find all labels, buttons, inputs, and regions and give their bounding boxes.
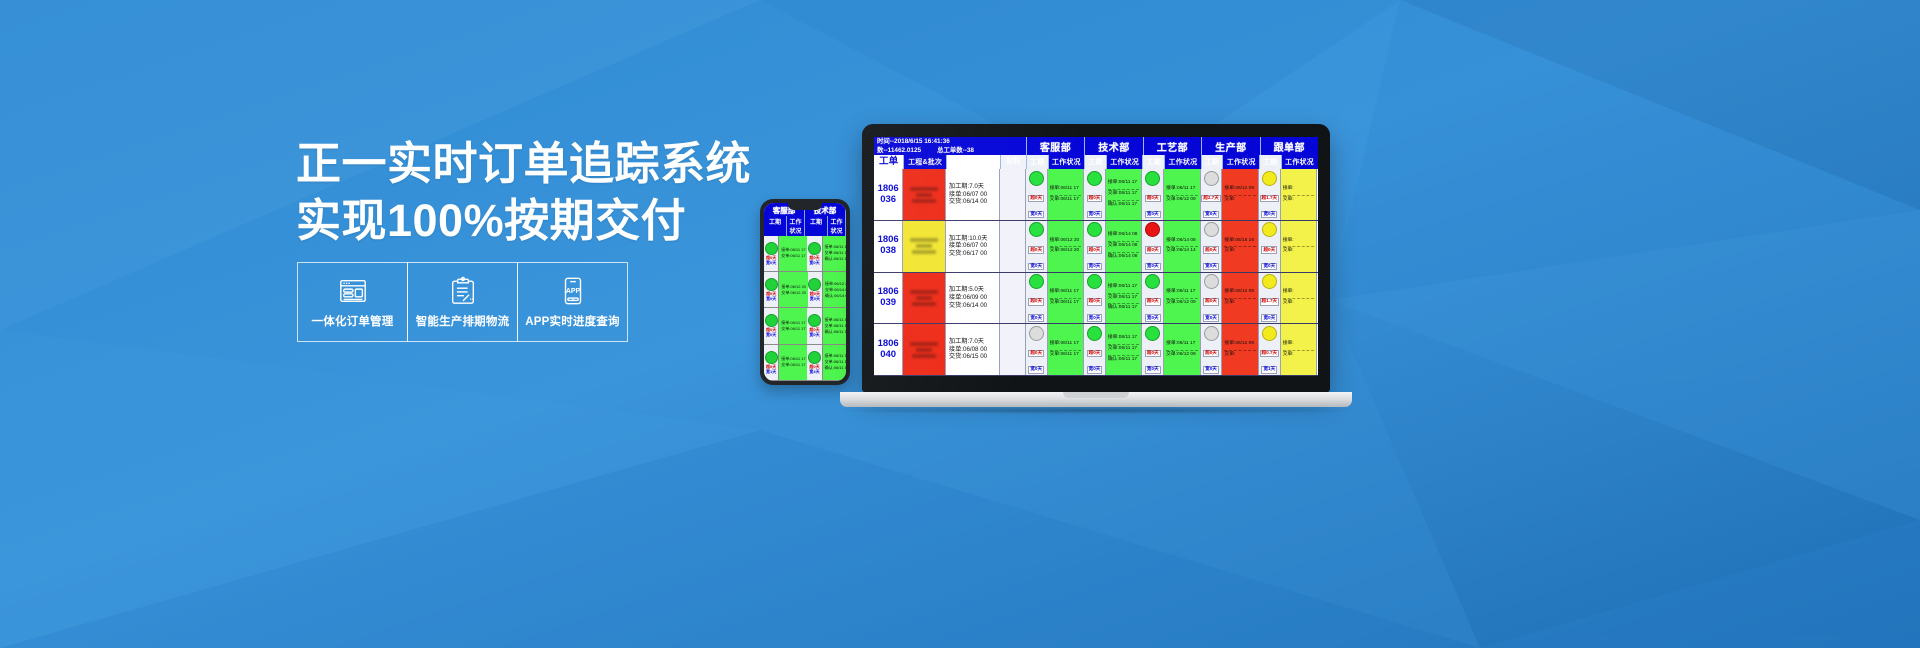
work-status-cell: 接单:06/11 17交单:06/11 17: [1048, 324, 1085, 375]
project-batch-cell: [903, 324, 946, 375]
status-line: 接单:06/11 17: [1108, 181, 1140, 186]
slack-chip: 宽0天: [1145, 314, 1161, 322]
department-header-strip: 客服部技术部工艺部生产部跟单部: [1026, 137, 1318, 155]
status-dot-white: [1204, 222, 1219, 237]
status-line: 接单:: [1283, 239, 1315, 244]
table-body: 1806036加工期:7.0天接单:06/07 00交货:06/14 00超0天…: [874, 169, 1318, 376]
status-line: 交单:: [1283, 350, 1315, 358]
slack-chip: 宽0天: [1028, 211, 1044, 219]
work-status-cell: 接单:06/12 09交单:: [1222, 169, 1259, 220]
col-header-material: 材料: [1000, 155, 1026, 169]
duration-cell: 超0天宽0天: [1026, 221, 1048, 272]
phone-slack-chip: 宽0天: [766, 261, 776, 265]
phone-duration-cell: 超0天宽0天: [807, 308, 822, 343]
phone-table-row[interactable]: 超0天宽0天接单:06/12 20交单:06/12 20超0天宽0天接单:06/…: [764, 272, 846, 308]
cycle-received: 接单:06/09 00: [949, 295, 999, 301]
status-line: 接单:: [1283, 342, 1315, 347]
phone-mockup: 客服部 技术部 工期 工作状况 工期 工作状况 超0天宽0天接单:06/11 1…: [760, 199, 850, 385]
status-dot-white: [1204, 171, 1219, 186]
phone-department-block: 超0天宽0天接单:06/12 20交单:06/14 08确认:06/14 08: [808, 272, 846, 307]
cycle-received: 接单:06/07 00: [949, 192, 999, 198]
status-line: 确认:06/14 08: [1108, 252, 1140, 260]
status-dot-yellow: [1262, 274, 1277, 289]
material-cell: [1000, 169, 1026, 220]
phone-slack-chip: 宽0天: [766, 333, 776, 337]
status-line: 交单:06/12 09: [1166, 350, 1198, 358]
slack-chip: 宽0天: [1203, 314, 1219, 322]
overdue-chip: 超0天: [1203, 298, 1219, 306]
status-line: 交单:06/12 09: [1166, 195, 1198, 203]
phone-status-dot-green: [808, 278, 821, 291]
table-column-header: 工单 工程&批次 加工周期 材料 工期 工作状况 工期 工作状况 工期 工作状况…: [874, 155, 1318, 169]
phone-slack-chip: 宽0天: [810, 297, 820, 301]
phone-table-row[interactable]: 超0天宽1天接单:06/11 17交单:06/11 17超0天宽4天接单:06/…: [764, 345, 846, 381]
phone-work-status-cell: 接单:06/11 17交单:06/11 17: [779, 345, 807, 380]
cycle-cell: 加工期:7.0天接单:06/08 00交货:06/15 00: [946, 324, 1000, 375]
work-status-cell: 接单:06/12 20交单:06/12 20: [1048, 221, 1085, 272]
status-line: 接单:06/11 17: [1050, 342, 1082, 347]
phone-work-status-cell: 接单:06/12 20交单:06/12 20: [779, 272, 808, 307]
redacted-text-bar: [912, 250, 936, 254]
status-line: 接单:06/14 08: [1166, 239, 1198, 244]
phone-status-line: 接单:06/11 17: [825, 245, 846, 249]
slack-chip: 宽0天: [1145, 366, 1161, 374]
status-dot-green: [1145, 274, 1160, 289]
slack-chip: 宽0天: [1261, 263, 1277, 271]
laptop-base: [840, 392, 1352, 407]
phone-status-line: 交单:06/11 17: [781, 254, 805, 258]
status-line: 交单:: [1283, 298, 1315, 306]
cycle-cell: 加工期:7.0天接单:06/07 00交货:06/14 00: [946, 169, 1000, 220]
cycle-cell: 加工期:5.0天接单:06/09 00交货:06/14 00: [946, 273, 1000, 324]
phone-duration-cell: 超0天宽0天: [807, 236, 822, 271]
work-status-cell: 接单:06/11 17交单:06/12 09: [1164, 273, 1201, 324]
cycle-period: 加工期:10.0天: [949, 236, 999, 242]
feature-label: APP实时进度查询: [525, 313, 619, 329]
status-line: 交单:: [1283, 246, 1315, 254]
status-line: 交单:06/11 17: [1108, 189, 1140, 197]
phone-duration-cell: 超0天宽0天: [764, 272, 779, 307]
department-cell: 生产部: [1201, 137, 1259, 155]
phone-status-line: 确认:06/11 17: [825, 257, 846, 261]
slack-chip: 宽0天: [1203, 211, 1219, 219]
phone-duration-cell: 超0天宽0天: [764, 236, 779, 271]
overdue-chip: 超1.7天: [1260, 298, 1280, 306]
slack-chip: 宽0天: [1087, 211, 1103, 219]
duration-cell: 超0.7天宽1天: [1259, 324, 1281, 375]
status-line: 接单:06/11 17: [1108, 285, 1140, 290]
status-line: 交单:06/11 17: [1050, 298, 1082, 306]
redacted-text-bar: [910, 187, 938, 191]
duration-cell: 超0天宽0天: [1142, 169, 1164, 220]
phone-col-status: 工作状况: [787, 216, 805, 236]
department-cell: 技术部: [1084, 137, 1142, 155]
feature-item-app-progress[interactable]: APP APP实时进度查询: [517, 262, 628, 342]
status-line: 交单:06/14 08: [1108, 241, 1140, 249]
order-id-bottom: 039: [880, 298, 896, 309]
status-line: 交单:: [1224, 350, 1256, 358]
status-line: 交单:06/11 17: [1108, 344, 1140, 352]
overdue-chip: 超0.7天: [1260, 350, 1280, 358]
phone-status-dot-green: [808, 351, 821, 364]
work-status-cell: 接单:06/14 08交单:06/14 14: [1164, 221, 1201, 272]
slack-chip: 宽0天: [1028, 263, 1044, 271]
status-line: 交单:06/11 17: [1108, 293, 1140, 301]
work-status-cell: 接单:06/11 17交单:06/12 09: [1164, 324, 1201, 375]
order-id-cell: 1806038: [874, 221, 903, 272]
cycle-delivery: 交货:06/14 00: [949, 199, 999, 205]
overdue-chip: 超0天: [1203, 246, 1219, 254]
phone-status-line: 交单:06/11 17: [781, 363, 805, 367]
status-line: 接单:06/14 08: [1108, 233, 1140, 238]
app-icon-text: APP: [565, 288, 580, 295]
work-status-cell: 接单:06/11 17交单:06/12 09: [1164, 169, 1201, 220]
headline-block: 正一实时订单追踪系统 实现100%按期交付: [296, 136, 716, 249]
order-id-cell: 1806040: [874, 324, 903, 375]
duration-cell: 超0天宽0天: [1201, 324, 1223, 375]
redacted-text-bar: [912, 302, 936, 306]
order-id-cell: 1806036: [874, 169, 903, 220]
status-dot-yellow: [1262, 326, 1277, 341]
phone-status-line: 接单:06/11 17: [781, 248, 805, 252]
phone-department-block: 超0天宽1天接单:06/11 17交单:06/11 17: [764, 345, 807, 380]
phone-status-dot-green: [765, 314, 778, 327]
phone-department-block: 超0天宽4天接单:06/11 17交单:06/11 17确认:06/11 17: [807, 345, 846, 380]
cycle-period: 加工期:5.0天: [949, 287, 999, 293]
status-line: 交单:06/11 17: [1050, 350, 1082, 358]
duration-cell: 超1.7天宽0天: [1259, 273, 1281, 324]
status-dot-green: [1087, 171, 1102, 186]
status-line: 接单:: [1283, 187, 1315, 192]
feature-item-production-scheduling[interactable]: 智能生产排期物流: [407, 262, 518, 342]
status-line: 交单:06/11 17: [1050, 195, 1082, 203]
redacted-text-bar: [910, 342, 938, 346]
phone-status-line: 确认:06/11 17: [825, 330, 846, 334]
overdue-chip: 超0天: [1028, 298, 1044, 306]
department-cell: 跟单部: [1260, 137, 1318, 155]
phone-department-block: 超0天宽0天接单:06/12 20交单:06/12 20: [764, 272, 808, 307]
status-line: 交单:: [1224, 195, 1256, 203]
duration-cell: 超0天宽0天: [1201, 273, 1223, 324]
meta-timestamp: 时间--2018/6/15 16:41:36: [877, 138, 1024, 147]
duration-cell: 超0天宽0天: [1259, 221, 1281, 272]
work-status-cell: 接单:06/11 17交单:06/11 17确认:06/11 17: [1106, 324, 1143, 375]
duration-cell: 超0天宽0天: [1084, 169, 1106, 220]
cycle-received: 接单:06/08 00: [949, 347, 999, 353]
status-line: 交单:06/14 14: [1166, 246, 1198, 254]
material-cell: [1000, 273, 1026, 324]
work-status-cell: 接单:06/11 17交单:06/11 17: [1048, 273, 1085, 324]
project-batch-cell: [903, 273, 946, 324]
slack-chip: 宽0天: [1261, 211, 1277, 219]
phone-status-line: 交单:06/11 17: [825, 251, 846, 255]
phone-status-dot-green: [765, 351, 778, 364]
overdue-chip: 超0天: [1087, 298, 1103, 306]
laptop-shadow: [832, 407, 1360, 414]
col-header-status: 工作状况: [1281, 155, 1318, 169]
phone-status-line: 交单:06/14 08: [825, 288, 846, 292]
phone-status-dot-green: [765, 278, 778, 291]
overdue-chip: 超0天: [1028, 246, 1044, 254]
col-header-duration: 工期: [1026, 155, 1048, 169]
col-header-duration: 工期: [1142, 155, 1164, 169]
project-batch-cell: [903, 221, 946, 272]
order-id-bottom: 036: [880, 195, 896, 206]
duration-cell: 超0天宽0天: [1084, 324, 1106, 375]
phone-duration-cell: 超0天宽1天: [764, 345, 779, 380]
phone-col-duration: 工期: [805, 216, 828, 236]
status-dot-white: [1204, 274, 1219, 289]
overdue-chip: 超0天: [1028, 350, 1044, 358]
overdue-chip: 超0天: [1145, 195, 1161, 203]
status-line: 确认:06/11 17: [1108, 303, 1140, 311]
phone-work-status-cell: 接单:06/11 17交单:06/11 17: [779, 308, 807, 343]
phone-status-line: 接单:06/12 20: [825, 282, 846, 286]
phone-status-dot-green: [765, 242, 778, 255]
overdue-chip: 超0天: [1087, 350, 1103, 358]
work-status-cell: 接单:06/11 17交单:06/11 17确认:06/11 17: [1106, 273, 1143, 324]
table-row[interactable]: 1806036加工期:7.0天接单:06/07 00交货:06/14 00超0天…: [874, 169, 1318, 221]
duration-cell: 超0天宽0天: [1084, 221, 1106, 272]
table-meta-row: 时间--2018/6/15 16:41:36 数--11462.0125总工单数…: [874, 137, 1318, 155]
department-cell: 工艺部: [1143, 137, 1201, 155]
feature-item-order-management[interactable]: 一体化订单管理: [297, 262, 408, 342]
duration-cell: 超0天宽0天: [1026, 169, 1048, 220]
redacted-text-bar: [916, 348, 932, 352]
col-header-status: 工作状况: [1106, 155, 1143, 169]
feature-label: 智能生产排期物流: [416, 313, 510, 329]
phone-status-line: 交单:06/11 17: [781, 327, 805, 331]
overdue-chip: 超0天: [1087, 195, 1103, 203]
redacted-text-bar: [916, 296, 932, 300]
status-dot-red: [1145, 222, 1160, 237]
duration-cell: 超1.7天宽0天: [1259, 169, 1281, 220]
redacted-text-bar: [910, 290, 938, 294]
col-header-duration: 工期: [1084, 155, 1106, 169]
cycle-cell: 加工期:10.0天接单:06/07 00交货:06/17 00: [946, 221, 1000, 272]
phone-screen[interactable]: 客服部 技术部 工期 工作状况 工期 工作状况 超0天宽0天接单:06/11 1…: [764, 203, 846, 381]
work-status-cell: 接单:06/12 09交单:: [1222, 273, 1259, 324]
status-line: 接单:06/11 17: [1108, 336, 1140, 341]
status-line: 接单:: [1283, 290, 1315, 295]
duration-cell: 超0天宽0天: [1142, 221, 1164, 272]
col-header-duration: 工期: [1259, 155, 1281, 169]
redacted-text-bar: [910, 238, 938, 242]
order-id-cell: 1806039: [874, 273, 903, 324]
col-header-status: 工作状况: [1164, 155, 1201, 169]
status-dot-green: [1029, 274, 1044, 289]
status-line: 交单:06/12 20: [1050, 246, 1082, 254]
status-dot-green: [1145, 171, 1160, 186]
phone-slack-chip: 宽0天: [809, 261, 819, 265]
status-dot-green: [1029, 222, 1044, 237]
status-line: 接单:06/12 09: [1224, 342, 1256, 347]
table-row[interactable]: 1806039加工期:5.0天接单:06/09 00交货:06/14 00超0天…: [874, 273, 1318, 325]
work-status-cell: 接单:交单:: [1281, 324, 1318, 375]
slack-chip: 宽0天: [1028, 366, 1044, 374]
status-dot-white: [1029, 326, 1044, 341]
overdue-chip: 超0天: [1087, 246, 1103, 254]
status-dot-green: [1029, 171, 1044, 186]
feature-label: 一体化订单管理: [312, 313, 394, 329]
status-line: 接单:06/12 20: [1050, 239, 1082, 244]
status-line: 确认:06/11 17: [1108, 200, 1140, 208]
redacted-text-bar: [916, 193, 932, 197]
phone-col-duration: 工期: [764, 216, 787, 236]
status-line: 交单:06/12 09: [1166, 298, 1198, 306]
slack-chip: 宽0天: [1203, 263, 1219, 271]
overdue-chip: 超0天: [1145, 298, 1161, 306]
order-card-icon: [338, 276, 368, 306]
phone-slack-chip: 宽4天: [809, 370, 819, 374]
meta-count-value: 数--11462.0125: [877, 147, 921, 154]
phone-column-header: 工期 工作状况 工期 工作状况: [764, 216, 846, 236]
headline-line-1: 正一实时订单追踪系统: [296, 136, 716, 193]
phone-status-line: 交单:06/11 17: [825, 360, 846, 364]
cycle-period: 加工期:7.0天: [949, 184, 999, 190]
overdue-chip: 超0天: [1145, 350, 1161, 358]
phone-department-block: 超0天宽0天接单:06/11 17交单:06/11 17确认:06/11 17: [807, 308, 846, 343]
work-status-cell: 接单:06/11 17交单:06/11 17: [1048, 169, 1085, 220]
slack-chip: 宽1天: [1261, 366, 1277, 374]
phone-duration-cell: 超0天宽0天: [764, 308, 779, 343]
status-line: 交单:: [1224, 246, 1256, 254]
duration-cell: 超2.7天宽0天: [1201, 169, 1223, 220]
phone-status-line: 交单:06/12 20: [781, 291, 806, 295]
cycle-delivery: 交货:06/14 00: [949, 303, 999, 309]
col-header-cycle: 加工周期: [946, 155, 1000, 169]
work-status-cell: 接单:交单:: [1281, 221, 1318, 272]
phone-slack-chip: 宽0天: [809, 333, 819, 337]
status-dot-green: [1087, 274, 1102, 289]
status-line: 接单:06/11 17: [1050, 187, 1082, 192]
slack-chip: 宽0天: [1087, 263, 1103, 271]
slack-chip: 宽0天: [1028, 314, 1044, 322]
phone-table-row[interactable]: 超0天宽0天接单:06/11 17交单:06/11 17超0天宽0天接单:06/…: [764, 236, 846, 272]
work-status-cell: 接单:交单:: [1281, 273, 1318, 324]
overdue-chip: 超0天: [1145, 246, 1161, 254]
duration-cell: 超0天宽0天: [1084, 273, 1106, 324]
status-dot-green: [1087, 326, 1102, 341]
overdue-chip: 超0天: [1028, 195, 1044, 203]
order-id-bottom: 038: [880, 246, 896, 257]
phone-slack-chip: 宽0天: [766, 297, 776, 301]
slack-chip: 宽0天: [1261, 314, 1277, 322]
project-batch-cell: [903, 169, 946, 220]
status-dot-green: [1145, 326, 1160, 341]
phone-col-status: 工作状况: [828, 216, 846, 236]
clipboard-icon: [448, 276, 478, 306]
phone-status-line: 接单:06/11 17: [825, 354, 846, 358]
status-line: 接单:06/12 09: [1224, 290, 1256, 295]
col-header-duration: 工期: [1201, 155, 1223, 169]
cycle-delivery: 交货:06/17 00: [949, 251, 999, 257]
material-cell: [1000, 324, 1026, 375]
phone-status-line: 接单:06/12 20: [781, 285, 806, 289]
status-line: 交单:: [1224, 298, 1256, 306]
redacted-text-bar: [912, 354, 936, 358]
phone-status-line: 交单:06/11 17: [825, 324, 846, 328]
phone-slack-chip: 宽1天: [766, 370, 776, 374]
table-meta-info: 时间--2018/6/15 16:41:36 数--11462.0125总工单数…: [874, 137, 1026, 155]
phone-status-line: 接单:06/11 17: [825, 318, 846, 322]
phone-status-dot-green: [808, 314, 821, 327]
slack-chip: 宽0天: [1203, 366, 1219, 374]
status-dot-green: [1087, 222, 1102, 237]
phone-department-block: 超0天宽0天接单:06/11 17交单:06/11 17: [764, 308, 807, 343]
promo-banner: 正一实时订单追踪系统 实现100%按期交付 一体化订单管理: [0, 0, 1920, 648]
laptop-lid: 时间--2018/6/15 16:41:36 数--11462.0125总工单数…: [862, 124, 1330, 392]
overdue-chip: 超1.7天: [1260, 195, 1280, 203]
status-line: 接单:06/11 17: [1166, 187, 1198, 192]
order-id-top: 1806: [878, 184, 899, 195]
slack-chip: 宽0天: [1145, 263, 1161, 271]
mobile-app-icon: APP: [558, 276, 588, 306]
status-line: 接单:06/15 16: [1224, 239, 1256, 244]
phone-status-line: 接单:06/11 17: [781, 357, 805, 361]
redacted-text-bar: [912, 199, 936, 203]
phone-work-status-cell: 接单:06/11 17交单:06/11 17确认:06/11 17: [823, 308, 846, 343]
phone-status-line: 确认:06/11 17: [825, 366, 846, 370]
phone-department-block: 超0天宽0天接单:06/11 17交单:06/11 17: [764, 236, 807, 271]
col-header-id: 工单: [874, 155, 903, 169]
work-status-cell: 接单:06/11 17交单:06/11 17确认:06/11 17: [1106, 169, 1143, 220]
order-id-bottom: 040: [880, 350, 896, 361]
overdue-chip: 超0天: [1203, 350, 1219, 358]
redacted-text-bar: [916, 244, 932, 248]
table-row[interactable]: 1806038加工期:10.0天接单:06/07 00交货:06/17 00超0…: [874, 221, 1318, 273]
status-line: 接单:06/11 17: [1050, 290, 1082, 295]
table-row[interactable]: 1806040加工期:7.0天接单:06/08 00交货:06/15 00超0天…: [874, 324, 1318, 376]
status-line: 接单:06/11 17: [1166, 290, 1198, 295]
phone-notch: [788, 203, 822, 210]
slack-chip: 宽0天: [1145, 211, 1161, 219]
status-dot-white: [1204, 326, 1219, 341]
cycle-received: 接单:06/07 00: [949, 243, 999, 249]
duration-cell: 超0天宽0天: [1142, 324, 1164, 375]
phone-status-line: 接单:06/11 17: [781, 321, 805, 325]
phone-duration-cell: 超0天宽4天: [807, 345, 822, 380]
slack-chip: 宽0天: [1087, 314, 1103, 322]
feature-list: 一体化订单管理 智能生产排期物流 APP: [297, 262, 628, 342]
meta-total-orders: 总工单数--38: [937, 147, 974, 154]
col-header-status: 工作状况: [1222, 155, 1259, 169]
phone-status-dot-green: [808, 242, 821, 255]
slack-chip: 宽0天: [1087, 366, 1103, 374]
status-line: 接单:06/12 09: [1224, 187, 1256, 192]
phone-row-list: 超0天宽0天接单:06/11 17交单:06/11 17超0天宽0天接单:06/…: [764, 236, 846, 382]
order-tracking-table: 时间--2018/6/15 16:41:36 数--11462.0125总工单数…: [874, 137, 1318, 376]
duration-cell: 超0天宽0天: [1142, 273, 1164, 324]
cycle-period: 加工期:7.0天: [949, 339, 999, 345]
headline-line-2: 实现100%按期交付: [296, 193, 716, 250]
col-header-project: 工程&批次: [903, 155, 946, 169]
phone-department-block: 超0天宽0天接单:06/11 17交单:06/11 17确认:06/11 17: [807, 236, 846, 271]
meta-counts: 数--11462.0125总工单数--38: [877, 147, 1024, 156]
status-line: 确认:06/11 17: [1108, 355, 1140, 363]
status-line: 接单:06/11 17: [1166, 342, 1198, 347]
col-header-status: 工作状况: [1048, 155, 1085, 169]
duration-cell: 超0天宽0天: [1201, 221, 1223, 272]
phone-table-row[interactable]: 超0天宽0天接单:06/11 17交单:06/11 17超0天宽0天接单:06/…: [764, 308, 846, 344]
phone-work-status-cell: 接单:06/11 17交单:06/11 17确认:06/11 17: [823, 236, 846, 271]
overdue-chip: 超2.7天: [1201, 195, 1221, 203]
status-dot-yellow: [1262, 222, 1277, 237]
laptop-screen[interactable]: 时间--2018/6/15 16:41:36 数--11462.0125总工单数…: [874, 137, 1318, 376]
phone-work-status-cell: 接单:06/11 17交单:06/11 17: [779, 236, 807, 271]
duration-cell: 超0天宽0天: [1026, 273, 1048, 324]
work-status-cell: 接单:交单:: [1281, 169, 1318, 220]
